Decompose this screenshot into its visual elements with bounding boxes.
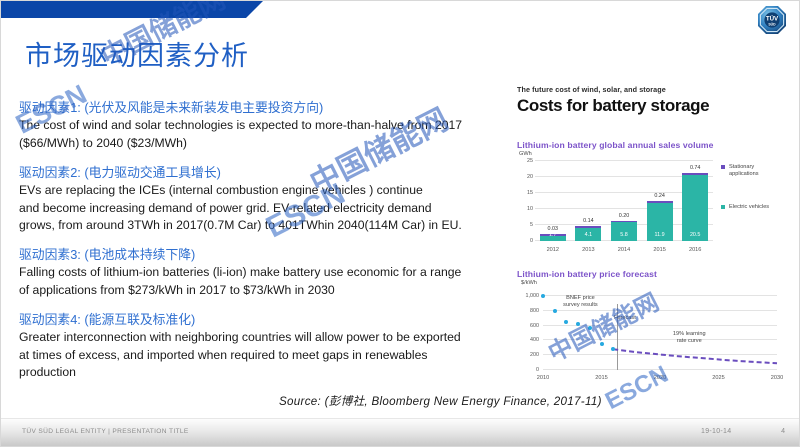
bar-chart-y-tick: 0 [519,238,533,244]
bar-chart-y-unit: GWh [519,151,532,157]
driver-block-3: 驱动因素3: (电池成本持续下降) Falling costs of lithi… [19,246,497,299]
price-forecast-chart: $/kWh02004006008001,00020102015202020252… [509,280,791,384]
legend-swatch [721,205,725,209]
bar-value-label: 20.5 [682,232,708,238]
driver-heading: 驱动因素2: (电力驱动交通工具增长) [19,164,497,181]
driver-body: Greater interconnection with neighboring… [19,329,497,381]
driver-heading: 驱动因素4: (能源互联及标准化) [19,311,497,328]
panel-title: Costs for battery storage [517,96,791,116]
source-citation: Source: (彭博社, Bloomberg New Energy Finan… [279,393,602,409]
driver-body: EVs are replacing the ICEs (internal com… [19,182,497,234]
legend-label: Electric vehicles [729,204,785,211]
bar-segment-electric-vehicles: 1.7 [540,236,566,241]
bar-chart-title: Lithium-ion battery global annual sales … [517,140,791,150]
drivers-list: 驱动因素1: (光伏及风能是未来新装发电主要投资方向) The cost of … [19,99,497,393]
bar-column: 20.50.74 [682,173,708,241]
svg-text:SÜD: SÜD [768,21,776,26]
bar-chart-x-tick: 2014 [607,247,641,253]
driver-body: The cost of wind and solar technologies … [19,117,497,152]
bar-value-label: 4.1 [575,232,601,238]
learning-rate-curve [509,280,791,384]
bar-top-value-label: 0.74 [678,165,712,171]
chart-annotation: BNEF pricesurvey results [552,295,608,310]
page-title: 市场驱动因素分析 [25,34,249,73]
bar-top-value-label: 0.03 [536,226,570,232]
bar-segment-electric-vehicles: 11.9 [647,203,673,241]
bar-chart-x-tick: 2013 [571,247,605,253]
driver-block-1: 驱动因素1: (光伏及风能是未来新装发电主要投资方向) The cost of … [19,99,497,152]
bar-column: 11.90.24 [647,201,673,241]
top-accent-bar [1,1,263,18]
driver-block-2: 驱动因素2: (电力驱动交通工具增长) EVs are replacing th… [19,164,497,234]
bar-column: 5.80.20 [611,221,637,241]
driver-block-4: 驱动因素4: (能源互联及标准化) Greater interconnectio… [19,311,497,381]
driver-line: production [19,364,497,381]
chart-annotation: Forecast [597,315,653,322]
bar-segment-electric-vehicles: 4.1 [575,228,601,241]
driver-body: Falling costs of lithium-ion batteries (… [19,264,497,299]
bar-chart-y-tick: 20 [519,174,533,180]
gridline [535,160,713,161]
bar-chart-y-tick: 5 [519,222,533,228]
panel-eyebrow: The future cost of wind, solar, and stor… [517,85,791,94]
driver-line: at times of excess, and imported when re… [19,347,497,364]
data-point [553,309,557,313]
bar-segment-electric-vehicles: 20.5 [682,175,708,241]
tuv-sud-logo: TÜV SÜD [757,5,787,35]
bar-value-label: 1.7 [540,232,566,238]
driver-line: EVs are replacing the ICEs (internal com… [19,182,497,199]
data-point [588,326,592,330]
bar-column: 4.10.14 [575,226,601,241]
driver-line: ($66/MWh) to 2040 ($23/MWh) [19,135,497,152]
driver-line: of applications from $273/kWh in 2017 to… [19,282,497,299]
bar-chart-x-tick: 2012 [536,247,570,253]
slide-canvas: TÜV SÜD 市场驱动因素分析 驱动因素1: (光伏及风能是未来新装发电主要投… [0,0,800,447]
footer-entity-label: TÜV SÜD LEGAL ENTITY | PRESENTATION TITL… [22,428,189,435]
bar-chart-y-tick: 10 [519,206,533,212]
bar-chart-y-tick: 25 [519,158,533,164]
chart-panel: The future cost of wind, solar, and stor… [509,85,791,389]
driver-heading: 驱动因素1: (光伏及风能是未来新装发电主要投资方向) [19,99,497,116]
slide-footer: TÜV SÜD LEGAL ENTITY | PRESENTATION TITL… [1,418,799,446]
driver-line: Falling costs of lithium-ion batteries (… [19,264,497,281]
line-chart-title: Lithium-ion battery price forecast [517,269,791,279]
bar-value-label: 5.8 [611,232,637,238]
bar-segment-electric-vehicles: 5.8 [611,222,637,241]
bar-top-value-label: 0.14 [571,218,605,224]
footer-date: 19-10-14 [701,428,731,435]
data-point [541,294,545,298]
data-point [600,342,604,346]
bar-top-value-label: 0.24 [643,193,677,199]
bar-top-value-label: 0.20 [607,213,641,219]
bar-value-label: 11.9 [647,232,673,238]
legend-swatch [721,165,725,169]
driver-line: The cost of wind and solar technologies … [19,117,497,134]
legend-label: Stationary applications [729,164,785,178]
driver-line: and become increasing demand of power gr… [19,200,497,217]
svg-text:TÜV: TÜV [766,15,779,22]
bar-chart-y-tick: 15 [519,190,533,196]
driver-line: grows, from around 3TWh in 2017(0.7M Car… [19,217,497,234]
footer-page-number: 4 [781,428,785,435]
driver-line: Greater interconnection with neighboring… [19,329,497,346]
bar-chart-x-tick: 2015 [643,247,677,253]
driver-heading: 驱动因素3: (电池成本持续下降) [19,246,497,263]
bar-column: 1.70.03 [540,234,566,241]
chart-annotation: 19% learningrate curve [661,331,717,346]
bar-chart: GWh05101520251.70.0320124.10.1420135.80.… [509,151,791,259]
bar-chart-x-tick: 2016 [678,247,712,253]
